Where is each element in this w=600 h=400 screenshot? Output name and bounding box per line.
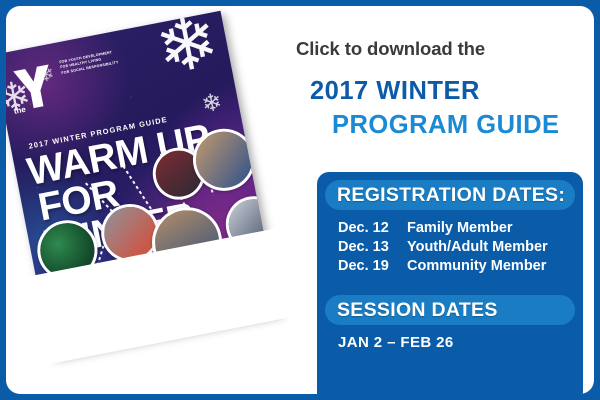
- program-guide-cover[interactable]: the FOR YOUTH DEVELOPMENT FOR HEALTHY LI…: [6, 20, 288, 370]
- promo-kicker: Click to download the: [296, 38, 586, 60]
- table-row: Dec. 13 Youth/Adult Member: [338, 238, 548, 257]
- promo-headline: Click to download the 2017 WINTER PROGRA…: [296, 38, 586, 140]
- registration-audience: Youth/Adult Member: [407, 238, 548, 257]
- table-row: Dec. 19 Community Member: [338, 257, 548, 276]
- session-date-range: JAN 2 – FEB 26: [338, 334, 454, 351]
- promo-title-line-2: PROGRAM GUIDE: [296, 111, 586, 140]
- snowflake-icon: ❄: [36, 64, 56, 87]
- registration-date: Dec. 13: [338, 238, 407, 257]
- snowflake-icon: ❄: [200, 90, 224, 117]
- promo-title-line-1: 2017 WINTER: [296, 77, 586, 106]
- table-row: Dec. 12 Family Member: [338, 219, 548, 238]
- ymca-tagline: FOR YOUTH DEVELOPMENT FOR HEALTHY LIVING…: [59, 49, 119, 76]
- registration-date: Dec. 19: [338, 257, 407, 276]
- registration-audience: Family Member: [407, 219, 513, 238]
- registration-dates-heading: REGISTRATION DATES:: [325, 180, 575, 210]
- dates-panel: REGISTRATION DATES: Dec. 12 Family Membe…: [317, 172, 583, 394]
- registration-date: Dec. 12: [338, 219, 407, 238]
- registration-audience: Community Member: [407, 257, 546, 276]
- session-dates-heading: SESSION DATES: [325, 295, 575, 325]
- promo-banner[interactable]: the FOR YOUTH DEVELOPMENT FOR HEALTHY LI…: [0, 0, 600, 400]
- registration-dates-list: Dec. 12 Family Member Dec. 13 Youth/Adul…: [338, 219, 548, 276]
- banner-inner: the FOR YOUTH DEVELOPMENT FOR HEALTHY LI…: [6, 6, 594, 394]
- snowflake-icon: ❄: [150, 11, 225, 87]
